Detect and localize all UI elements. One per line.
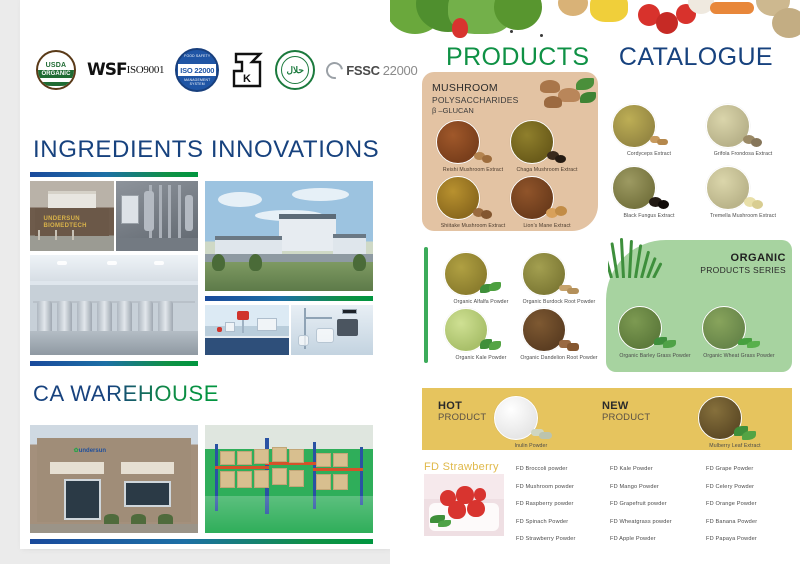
mushroom-line2: POLYSACCHARIDES xyxy=(432,95,518,105)
heading-ingredients-innovations: INGREDIENTS INNOVATIONS xyxy=(33,136,379,164)
product-organic-wheat-grass: Organic Wheat Grass Powder xyxy=(698,306,780,359)
kale-garnish-icon xyxy=(480,336,502,352)
mushroom-section-heading: MUSHROOM POLYSACCHARIDES β –GLUCAN xyxy=(432,82,518,115)
wheat-grass-garnish-icon xyxy=(738,334,760,350)
fd-strawberry-photo xyxy=(424,474,504,536)
strawberry-icon xyxy=(452,18,468,38)
barley-grass-garnish-icon xyxy=(654,334,676,350)
mulberry-label: Mulberry Leaf Extract xyxy=(694,443,776,449)
laboratory-photo xyxy=(205,305,289,355)
product-inulin-powder: Inulin Powder xyxy=(490,396,572,449)
onion-icon xyxy=(558,0,588,16)
fd-strawberry-title: FD Strawberry xyxy=(424,461,499,473)
dandelion-label: Organic Dandelion Root Powder xyxy=(518,355,600,361)
mulberry-leaf-icon xyxy=(734,424,756,440)
black-fungus-label: Black Fungus Extract xyxy=(608,213,690,219)
title-catalogue: CATALOGUE xyxy=(619,43,773,71)
burdock-garnish-icon xyxy=(558,280,580,296)
potato-icon-2 xyxy=(772,8,800,38)
fssc-22000-icon: FSSC 22000 xyxy=(326,62,417,79)
lions-mane-label: Lion’s Mane Extract xyxy=(506,223,588,229)
heading-ca-warehouse: CA WAREHOUSE xyxy=(33,381,219,407)
grifola-label: Grifola Frondosa Extract xyxy=(702,151,784,157)
barley-grass-label: Organic Barley Grass Powder xyxy=(614,353,696,359)
accent-bar-bottom-left xyxy=(30,361,198,366)
new-tag-line2: PRODUCT xyxy=(602,412,650,423)
fd-item: FD Apple Powder xyxy=(610,536,672,542)
chaga-garnish-icon xyxy=(546,148,568,164)
halal-label: حلال xyxy=(286,65,303,76)
cordyceps-garnish-icon xyxy=(648,132,670,148)
carrot-icon xyxy=(710,2,754,14)
grifola-garnish-icon xyxy=(742,132,764,148)
fd-item: FD Spinach Powder xyxy=(516,519,576,525)
accent-bar-top-left xyxy=(30,172,198,177)
new-tag-line1: NEW xyxy=(602,400,650,412)
shiitake-garnish-icon xyxy=(472,204,494,220)
reishi-garnish-icon xyxy=(472,148,494,164)
extraction-equipment-photo xyxy=(116,181,198,251)
product-organic-dandelion-root: Organic Dandelion Root Powder xyxy=(518,308,600,361)
fd-item: FD Broccoli powder xyxy=(516,466,576,472)
product-mulberry-leaf-extract: Mulberry Leaf Extract xyxy=(694,396,776,449)
inulin-capsule-icon xyxy=(530,424,552,440)
mushroom-decoration xyxy=(540,78,596,112)
fd-item: FD Banana Powder xyxy=(706,519,757,525)
fd-column-1: FD Broccoli powder FD Mushroom powder FD… xyxy=(516,466,576,554)
organic-panel-heading: ORGANIC PRODUCTS SERIES xyxy=(700,252,786,275)
iso-22000-icon: FOOD SAFETY ISO 22000 MANAGEMENT SYSTEM xyxy=(175,48,219,92)
fd-column-2: FD Kale Powder FD Mango Powder FD Grapef… xyxy=(610,466,672,554)
organic-heading-line1: ORGANIC xyxy=(700,252,786,264)
production-workshop-photo xyxy=(30,255,198,355)
organic-section-accent-bar xyxy=(424,247,428,363)
black-fungus-garnish-icon xyxy=(648,194,670,210)
fd-item: FD Mushroom powder xyxy=(516,484,576,490)
hot-tag-line1: HOT xyxy=(438,400,486,412)
ca-warehouse-exterior-photo: ✿undersun xyxy=(30,425,198,533)
tomato-icon-2 xyxy=(656,12,678,34)
tremella-garnish-icon xyxy=(742,194,764,210)
product-grifola-frondosa: Grifola Frondosa Extract xyxy=(702,104,784,157)
iso22000-arc-top: FOOD SAFETY xyxy=(177,54,217,58)
new-product-tag: NEW PRODUCT xyxy=(602,400,650,423)
mushroom-line3: β –GLUCAN xyxy=(432,106,518,115)
wsf-label: WSF xyxy=(87,63,127,77)
lions-mane-garnish-icon xyxy=(546,204,568,220)
title-products: PRODUCTS xyxy=(446,43,589,71)
certification-logos: USDA ORGANIC WSF ISO9001 FOOD SAFETY ISO… xyxy=(36,48,417,92)
product-organic-alfalfa: Organic Alfalfa Powder xyxy=(440,252,522,305)
ca-warehouse-interior-photo xyxy=(205,425,373,533)
wheat-grass-label: Organic Wheat Grass Powder xyxy=(698,353,780,359)
product-reishi: Reishi Mushroom Extract xyxy=(432,120,514,173)
usda-line1: USDA xyxy=(46,62,67,69)
wsf-iso9001-icon: WSF ISO9001 xyxy=(87,63,164,77)
yellow-pepper-icon xyxy=(590,0,628,22)
hot-tag-line2: PRODUCT xyxy=(438,412,486,423)
product-organic-barley-grass: Organic Barley Grass Powder xyxy=(614,306,696,359)
iso9001-label: ISO9001 xyxy=(127,64,165,76)
product-black-fungus: Black Fungus Extract xyxy=(608,166,690,219)
pepper-speck-1 xyxy=(510,30,513,33)
usda-line2: ORGANIC xyxy=(38,70,73,78)
fd-item: FD Grape Powder xyxy=(706,466,757,472)
fssc-label: FSSC xyxy=(346,63,379,78)
reishi-label: Reishi Mushroom Extract xyxy=(432,167,514,173)
factory-gate-photo: UNDERSUN BIOMEDTECH xyxy=(30,181,114,251)
fd-item: FD Grapefruit powder xyxy=(610,501,672,507)
product-organic-burdock-root: Organic Burdock Root Powder xyxy=(518,252,600,305)
brochure-page: USDA ORGANIC WSF ISO9001 FOOD SAFETY ISO… xyxy=(0,0,800,564)
fd-item: FD Mango Powder xyxy=(610,484,672,490)
fd-item: FD Orange Powder xyxy=(706,501,757,507)
iso22000-label: ISO 22000 xyxy=(178,64,216,76)
vegetable-border-decoration xyxy=(390,0,800,42)
fd-column-3: FD Grape Powder FD Celery Powder FD Oran… xyxy=(706,466,757,554)
tremella-label: Tremella Mushroom Extract xyxy=(702,213,784,219)
burdock-label: Organic Burdock Root Powder xyxy=(518,299,600,305)
accent-bar-mid-right xyxy=(205,296,373,301)
product-organic-kale: Organic Kale Powder xyxy=(440,308,522,361)
product-tremella: Tremella Mushroom Extract xyxy=(702,166,784,219)
product-shiitake: Shiitake Mushroom Extract xyxy=(432,176,514,229)
dandelion-garnish-icon xyxy=(558,336,580,352)
hot-product-tag: HOT PRODUCT xyxy=(438,400,486,423)
product-cordyceps: Cordyceps Extract xyxy=(608,104,690,157)
product-lions-mane: Lion’s Mane Extract xyxy=(506,176,588,229)
alfalfa-label: Organic Alfalfa Powder xyxy=(440,299,522,305)
factory-gate-caption: UNDERSUN BIOMEDTECH xyxy=(43,216,114,230)
shiitake-label: Shiitake Mushroom Extract xyxy=(432,223,514,229)
product-chaga: Chaga Mushroom Extract xyxy=(506,120,588,173)
cordyceps-label: Cordyceps Extract xyxy=(608,151,690,157)
fd-item: FD Kale Powder xyxy=(610,466,672,472)
fd-item: FD Wheatgrass powder xyxy=(610,519,672,525)
kale-label: Organic Kale Powder xyxy=(440,355,522,361)
fssc-swirl-icon xyxy=(323,58,347,82)
lab-glassware-photo xyxy=(291,305,373,355)
wheatgrass-decoration xyxy=(608,238,664,278)
pepper-speck-2 xyxy=(540,34,543,37)
fd-item: FD Raspberry powder xyxy=(516,501,576,507)
alfalfa-garnish-icon xyxy=(480,280,502,296)
mushroom-line1: MUSHROOM xyxy=(432,82,518,94)
factory-building-photo xyxy=(205,181,373,291)
undersun-logo: ✿undersun xyxy=(74,447,106,454)
organic-heading-line2: PRODUCTS SERIES xyxy=(700,265,786,275)
accent-bar-footer xyxy=(30,539,373,544)
halal-icon: حلال xyxy=(275,50,315,90)
kosher-k-icon: K xyxy=(230,51,264,89)
chaga-label: Chaga Mushroom Extract xyxy=(506,167,588,173)
usda-organic-icon: USDA ORGANIC xyxy=(36,50,76,90)
iso22000-arc-bottom: MANAGEMENT SYSTEM xyxy=(177,78,217,86)
fd-item: FD Celery Powder xyxy=(706,484,757,490)
inulin-label: Inulin Powder xyxy=(490,443,572,449)
fssc-number: 22000 xyxy=(383,63,418,78)
fd-item: FD Strawberry Powder xyxy=(516,536,576,542)
svg-text:K: K xyxy=(243,73,251,85)
fd-item: FD Papaya Powder xyxy=(706,536,757,542)
page-title: PRODUCTS CATALOGUE xyxy=(446,43,773,72)
